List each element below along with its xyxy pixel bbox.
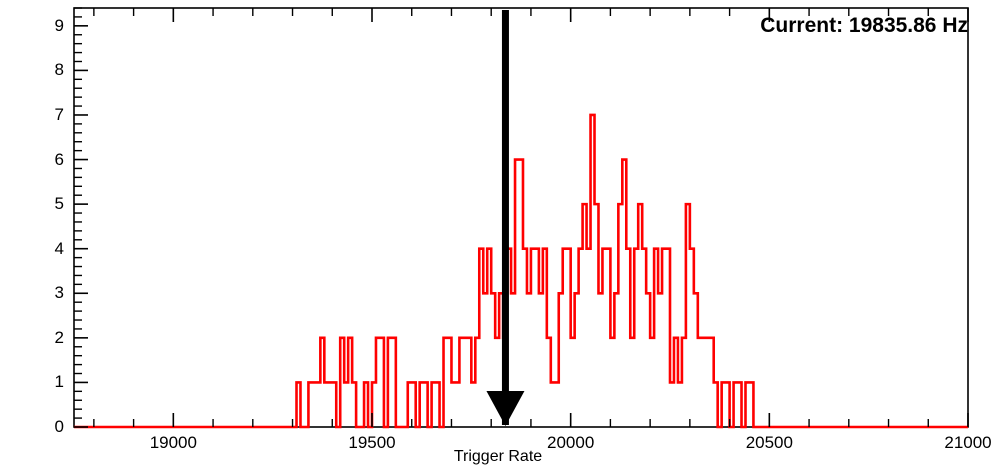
- y-tick-label-6: 6: [32, 150, 64, 170]
- x-axis-title: Trigger Rate: [0, 448, 996, 466]
- axis-ticks: [74, 8, 968, 427]
- y-tick-label-4: 4: [32, 239, 64, 259]
- y-tick-label-8: 8: [32, 60, 64, 80]
- root-canvas: 1900019500200002050021000 0123456789 Cur…: [0, 0, 996, 472]
- histogram-series: [74, 115, 968, 427]
- y-tick-label-9: 9: [32, 16, 64, 36]
- histogram-plot: [0, 0, 996, 472]
- y-tick-label-0: 0: [32, 417, 64, 437]
- y-tick-label-2: 2: [32, 328, 64, 348]
- current-rate-annotation: Current: 19835.86 Hz: [760, 14, 968, 38]
- y-tick-label-3: 3: [32, 283, 64, 303]
- y-tick-label-5: 5: [32, 194, 64, 214]
- plot-frame: [74, 8, 968, 427]
- y-tick-label-1: 1: [32, 372, 64, 392]
- current-value-marker: [486, 10, 524, 426]
- y-tick-label-7: 7: [32, 105, 64, 125]
